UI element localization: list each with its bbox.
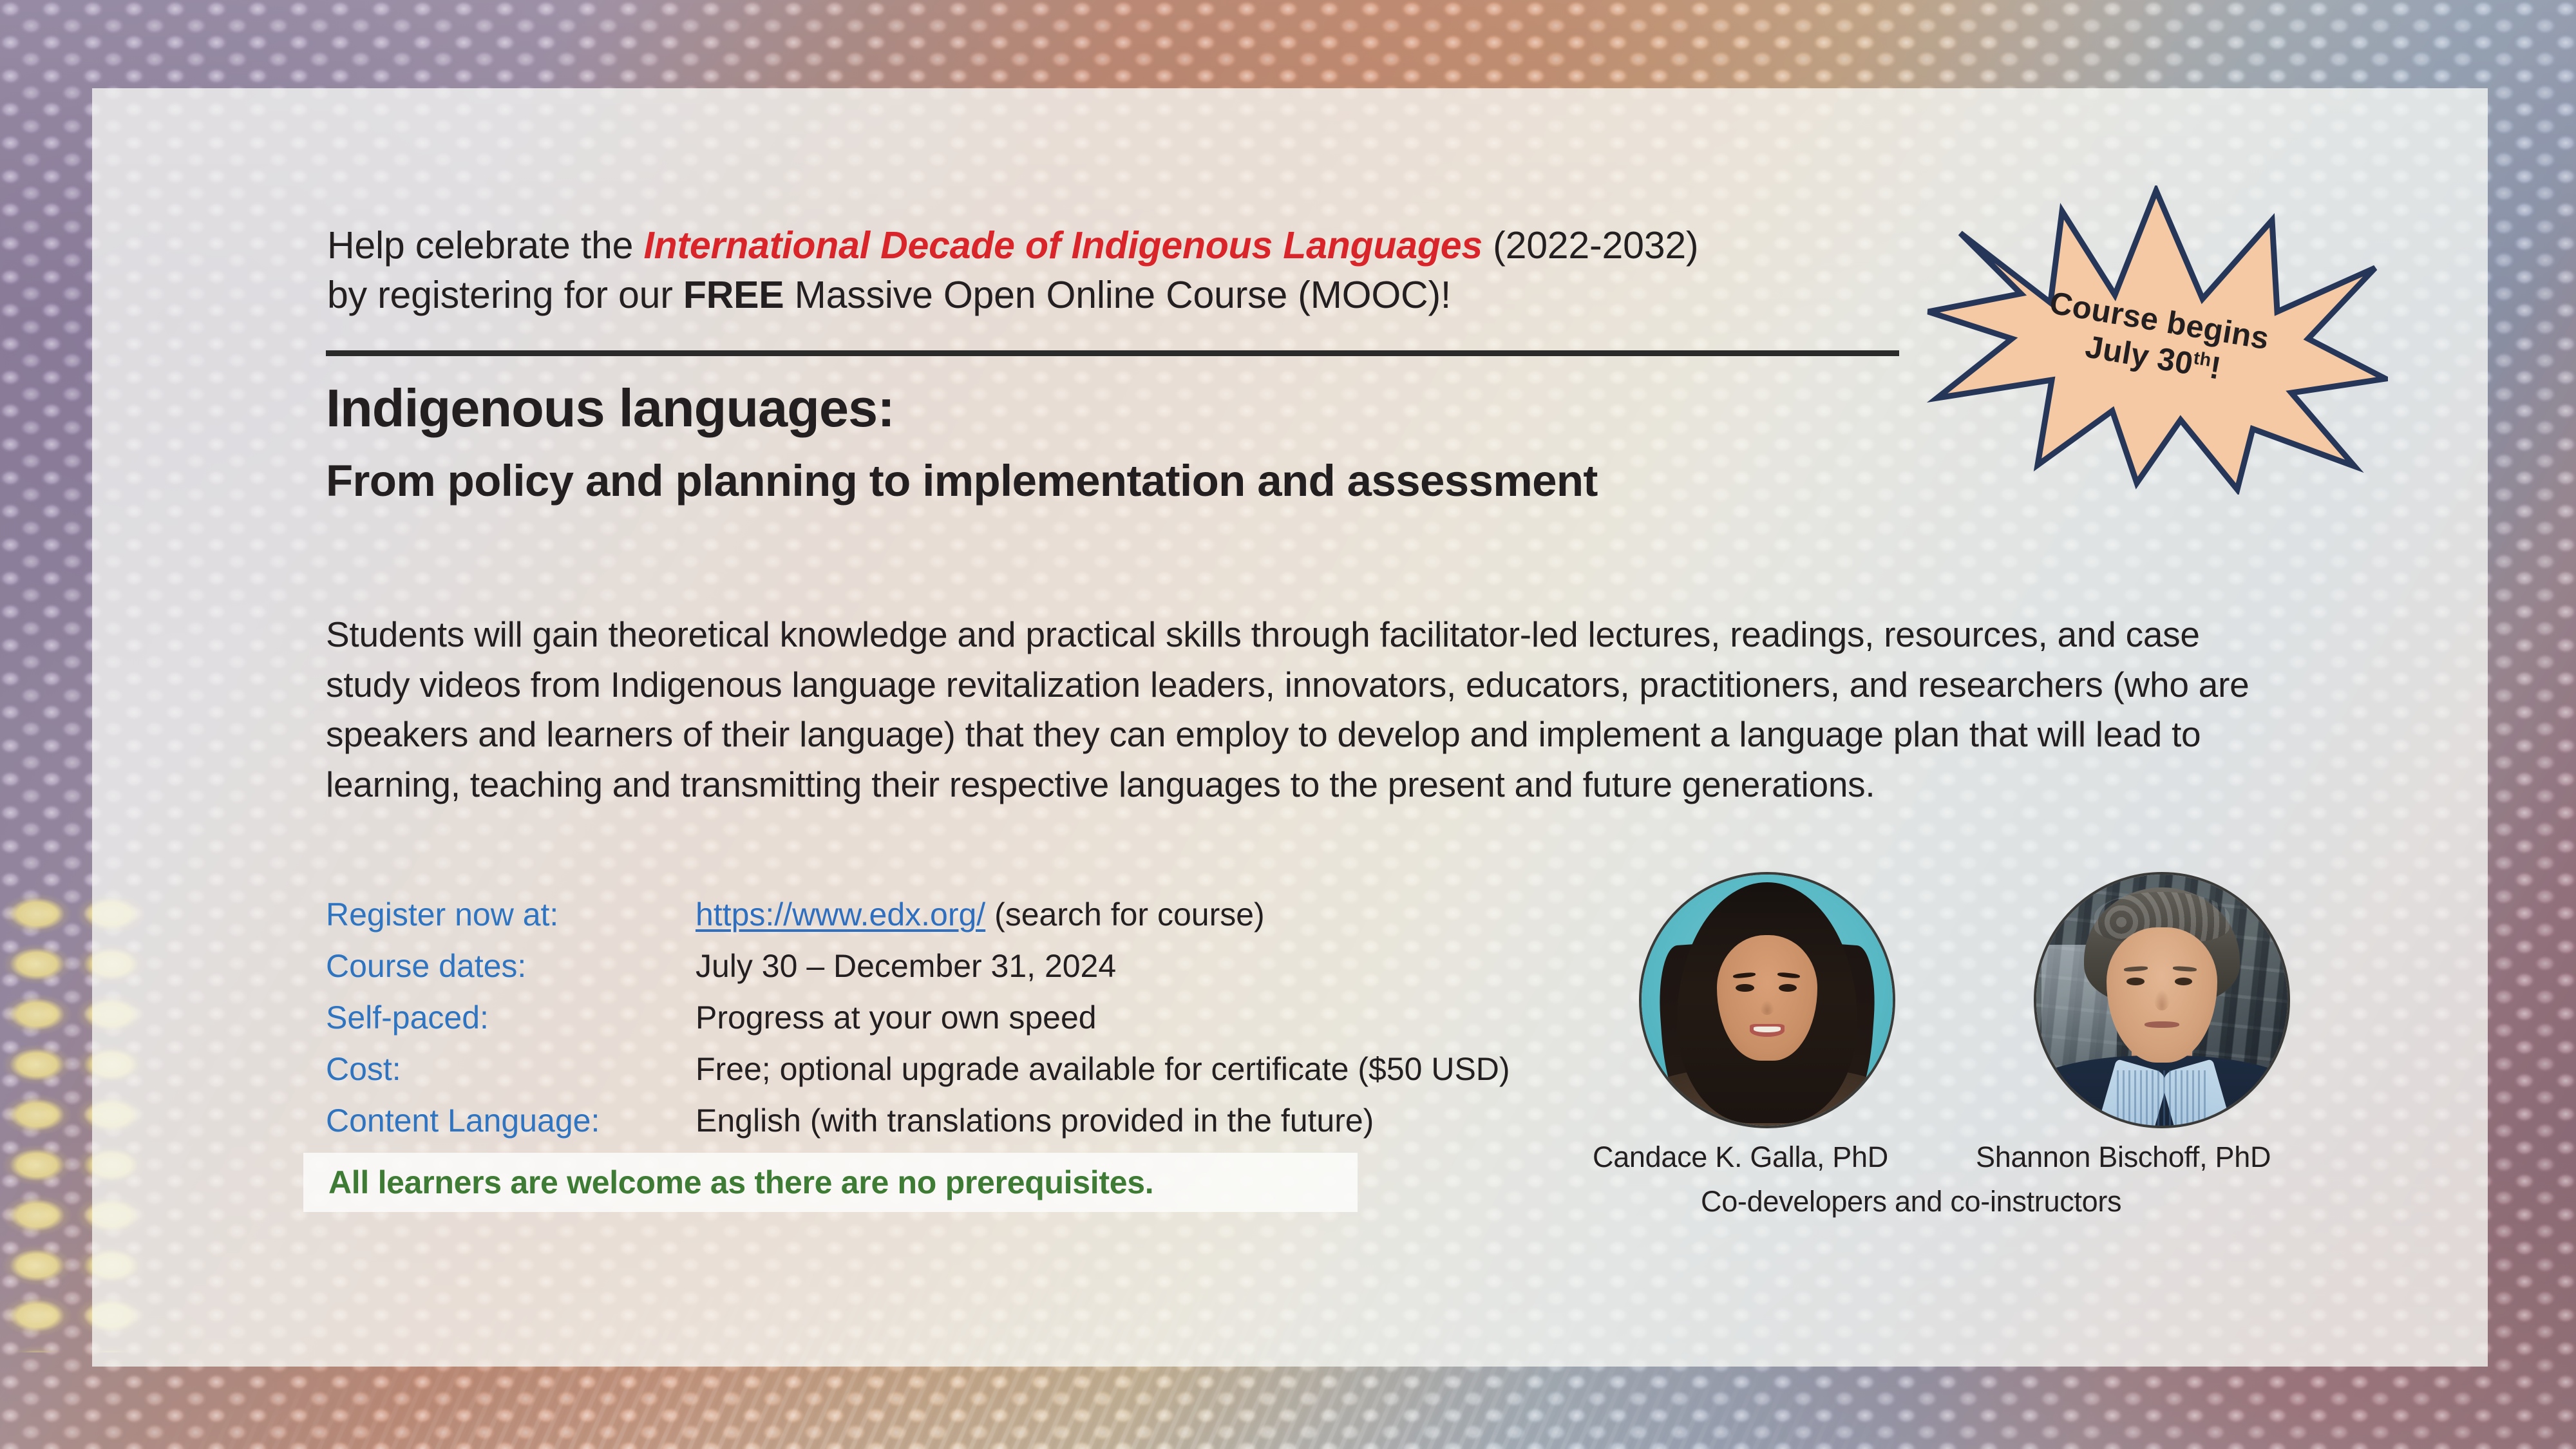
avatar-eye-right (2175, 978, 2192, 985)
avatar-eye-left (1736, 984, 1754, 992)
avatar-teeth (1754, 1027, 1781, 1032)
avatar-candace-galla (1639, 872, 1895, 1128)
kicker-line-2: by registering for our FREE Massive Open… (327, 270, 1924, 320)
kicker-text: Help celebrate the International Decade … (327, 221, 1924, 319)
page-title-line-1: Indigenous languages: (326, 377, 895, 439)
kicker-line1-before: Help celebrate the (327, 224, 643, 267)
avatar-shannon-bischoff (2034, 872, 2290, 1128)
table-row: Course dates: July 30 – December 31, 202… (326, 943, 1510, 995)
avatar-mouth (2145, 1021, 2180, 1028)
detail-value-course-dates: July 30 – December 31, 2024 (696, 943, 1510, 995)
detail-label-self-paced: Self-paced: (326, 995, 696, 1046)
kicker-line2-after: Massive Open Online Course (MOOC)! (784, 274, 1451, 316)
detail-value-self-paced: Progress at your own speed (696, 995, 1510, 1046)
table-row: Content Language: English (with translat… (326, 1098, 1510, 1150)
prerequisites-callout: All learners are welcome as there are no… (303, 1153, 1358, 1212)
detail-label-content-language: Content Language: (326, 1098, 696, 1150)
edx-link[interactable]: https://www.edx.org/ (696, 896, 985, 933)
page-title-line-2: From policy and planning to implementati… (326, 455, 1598, 506)
detail-value-cost: Free; optional upgrade available for cer… (696, 1046, 1510, 1098)
caption-shannon-bischoff: Shannon Bischoff, PhD (1976, 1141, 2271, 1174)
course-begins-starburst-badge: Course begins July 30th! (1924, 185, 2388, 495)
horizontal-divider (326, 350, 1899, 356)
body-paragraph: Students will gain theoretical knowledge… (326, 610, 2280, 810)
detail-value-register-note: (search for course) (985, 896, 1264, 933)
avatar-face (1717, 935, 1817, 1061)
kicker-free-word: FREE (683, 274, 784, 316)
prerequisites-callout-text: All learners are welcome as there are no… (328, 1164, 1153, 1201)
course-details-table: Register now at: https://www.edx.org/ (s… (326, 892, 1510, 1150)
detail-label-course-dates: Course dates: (326, 943, 696, 995)
detail-label-register: Register now at: (326, 892, 696, 943)
caption-instructor-role: Co-developers and co-instructors (1701, 1185, 2121, 1218)
detail-value-register: https://www.edx.org/ (search for course) (696, 892, 1510, 943)
table-row: Register now at: https://www.edx.org/ (s… (326, 892, 1510, 943)
caption-candace-galla: Candace K. Galla, PhD (1593, 1141, 1888, 1174)
detail-label-cost: Cost: (326, 1046, 696, 1098)
kicker-line1-after: (2022-2032) (1482, 224, 1698, 267)
kicker-line-1: Help celebrate the International Decade … (327, 221, 1924, 270)
table-row: Self-paced: Progress at your own speed (326, 995, 1510, 1046)
detail-value-content-language: English (with translations provided in t… (696, 1098, 1510, 1150)
avatar-nose (2154, 990, 2169, 1010)
avatar-eye-left (2126, 978, 2144, 985)
kicker-line2-before: by registering for our (327, 274, 683, 316)
kicker-highlight: International Decade of Indigenous Langu… (643, 224, 1482, 267)
table-row: Cost: Free; optional upgrade available f… (326, 1046, 1510, 1098)
avatar-shirt-stripes (2117, 1070, 2207, 1126)
